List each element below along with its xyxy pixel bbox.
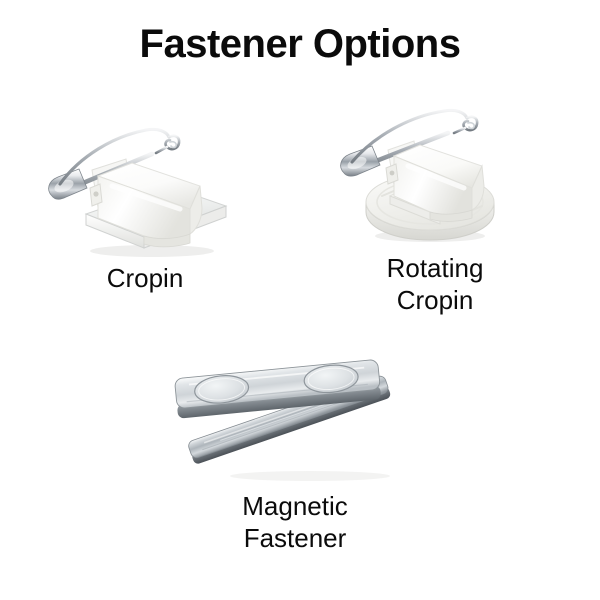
magnetic-fastener-label: Magnetic Fastener — [160, 490, 430, 554]
cropin-label: Cropin — [40, 262, 250, 294]
page-title: Fastener Options — [0, 22, 600, 66]
rotating-cropin-image — [330, 100, 540, 250]
product-rotating-cropin[interactable]: Rotating Cropin — [330, 100, 540, 330]
rotating-cropin-label: Rotating Cropin — [330, 252, 540, 316]
product-cropin[interactable]: Cropin — [40, 110, 250, 310]
magnetic-fastener-image — [160, 350, 430, 490]
product-magnetic-fastener[interactable]: Magnetic Fastener — [160, 350, 430, 565]
cropin-image — [40, 110, 250, 265]
fastener-options-page: Fastener Options — [0, 0, 600, 600]
